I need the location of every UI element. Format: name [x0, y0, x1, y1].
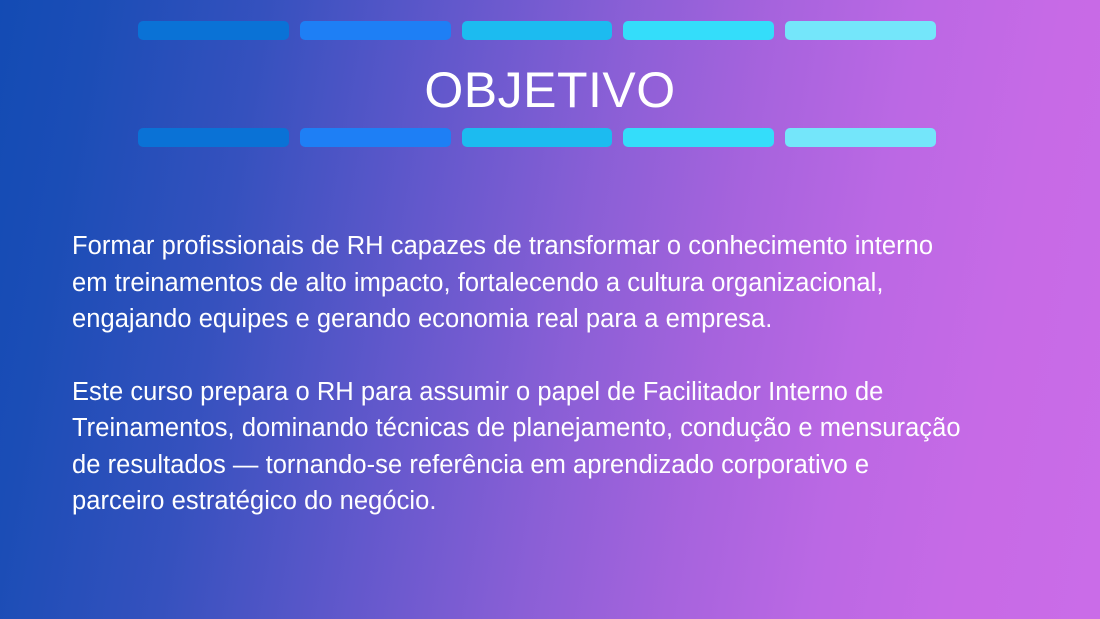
paragraph-2-line-2: Treinamentos, dominando técnicas de plan…: [72, 410, 1072, 447]
paragraph-2-line-4: parceiro estratégico do negócio.: [72, 483, 1072, 520]
decor-bar-8: [462, 128, 613, 147]
page-title: OBJETIVO: [0, 58, 1100, 122]
top-bar-row: [138, 21, 936, 40]
paragraph-2-line-1: Este curso prepara o RH para assumir o p…: [72, 374, 1072, 411]
decor-bar-6: [138, 128, 289, 147]
paragraph-1-line-1: Formar profissionais de RH capazes de tr…: [72, 228, 1072, 265]
decor-bar-3: [462, 21, 613, 40]
body-text-block: Formar profissionais de RH capazes de tr…: [72, 228, 1072, 520]
paragraph-1-line-2: em treinamentos de alto impacto, fortale…: [72, 265, 1072, 302]
decor-bar-2: [300, 21, 451, 40]
decor-bar-4: [623, 21, 774, 40]
decor-bar-9: [623, 128, 774, 147]
decor-bar-7: [300, 128, 451, 147]
paragraph-2-line-3: de resultados — tornando-se referência e…: [72, 447, 1072, 484]
paragraph-1-line-3: engajando equipes e gerando economia rea…: [72, 301, 1072, 338]
paragraph-2: Este curso prepara o RH para assumir o p…: [72, 374, 1072, 520]
bottom-bar-row: [138, 128, 936, 147]
decor-bar-5: [785, 21, 936, 40]
paragraph-1: Formar profissionais de RH capazes de tr…: [72, 228, 1072, 338]
decor-bar-1: [138, 21, 289, 40]
decor-bar-10: [785, 128, 936, 147]
slide-objetivo: OBJETIVO Formar profissionais de RH capa…: [0, 0, 1100, 619]
